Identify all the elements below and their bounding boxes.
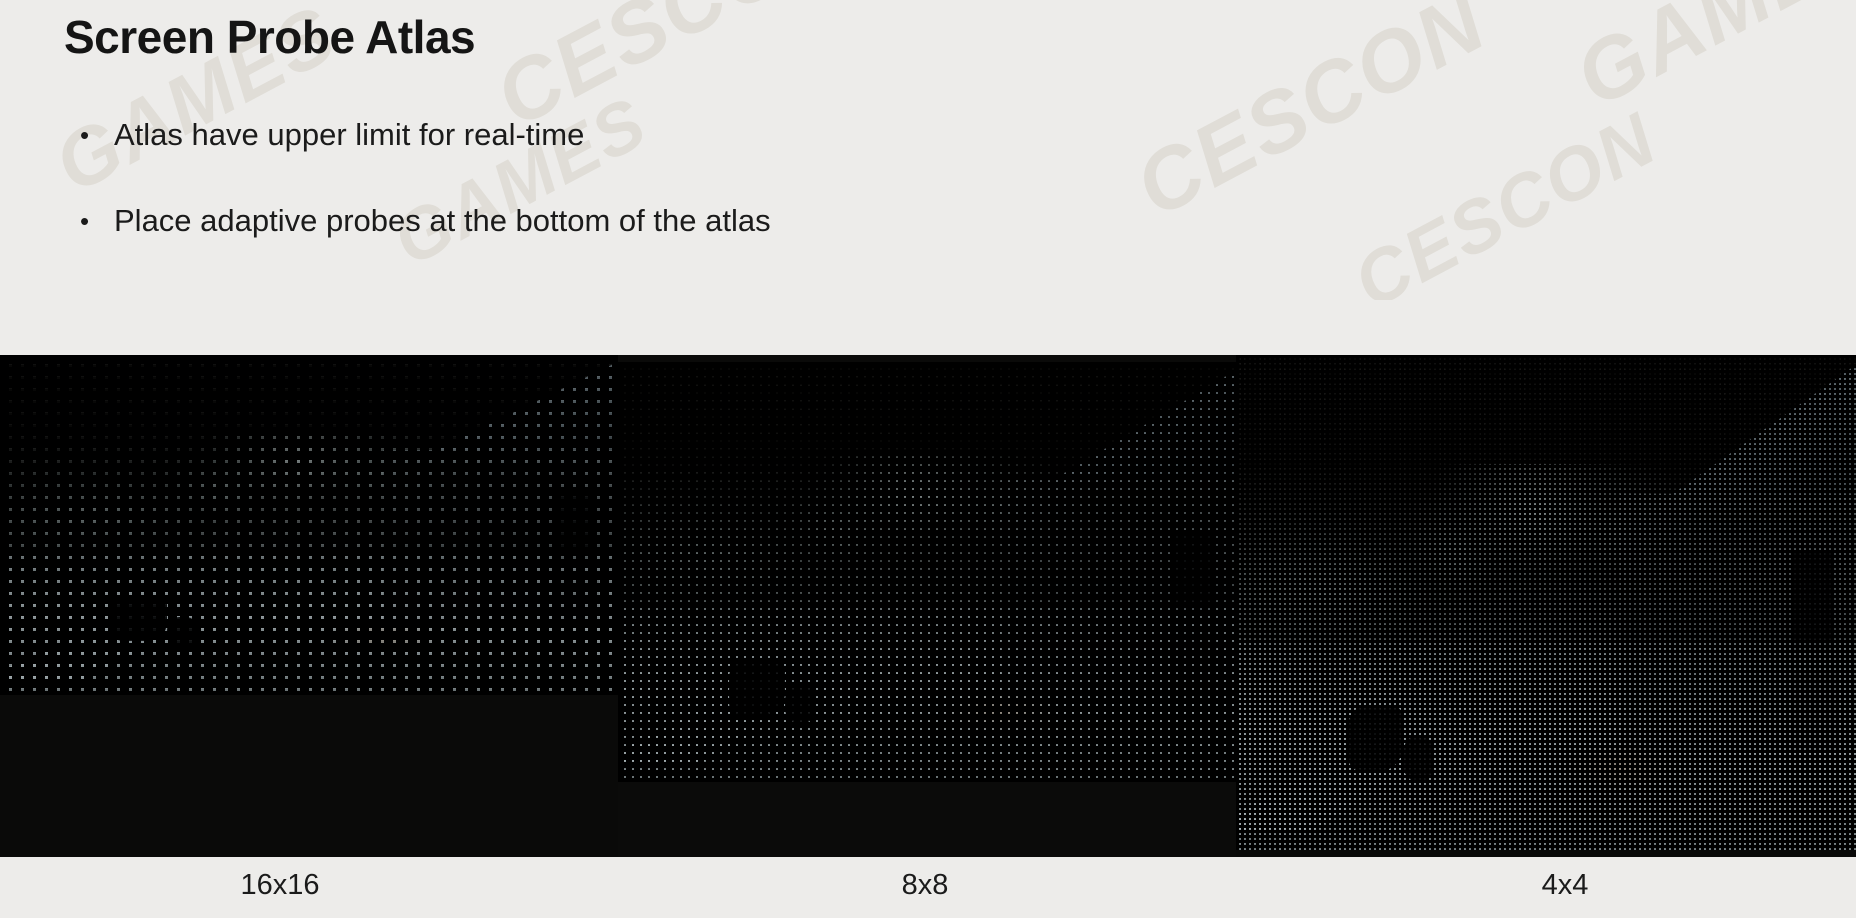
probe-dot-grid-4x4: [1236, 355, 1856, 850]
panel-caption-4x4: 4x4: [1470, 869, 1660, 902]
caption-row: 16x16 8x8 4x4: [0, 857, 1856, 918]
probe-atlas-panel-8x8: [618, 362, 1236, 857]
probe-render-4x4: [1236, 355, 1856, 850]
bullet-list: • Atlas have upper limit for real-time •…: [70, 118, 1470, 290]
probe-atlas-panel-16x16: [0, 355, 618, 857]
slide-text-area: Screen Probe Atlas • Atlas have upper li…: [0, 0, 1856, 355]
adaptive-probe-band: [618, 782, 1236, 857]
bullet-text: Place adaptive probes at the bottom of t…: [114, 204, 1470, 238]
probe-atlas-panel-4x4: [1236, 355, 1856, 857]
page-title: Screen Probe Atlas: [64, 10, 475, 64]
probe-dot-grid-16x16: [0, 355, 618, 695]
list-item: • Atlas have upper limit for real-time: [70, 118, 1470, 152]
bullet-text: Atlas have upper limit for real-time: [114, 118, 1470, 152]
figure-strip: [0, 355, 1856, 857]
list-item: • Place adaptive probes at the bottom of…: [70, 204, 1470, 238]
probe-dot-grid-8x8: [618, 362, 1236, 782]
probe-render-16x16: [0, 355, 618, 695]
bullet-dot-icon: •: [70, 118, 114, 152]
slide-root: GAMES CESCON GAMES CESCON GAMES CESCON S…: [0, 0, 1856, 918]
panel-caption-16x16: 16x16: [180, 869, 380, 902]
probe-render-8x8: [618, 362, 1236, 782]
bullet-dot-icon: •: [70, 204, 114, 238]
panel-caption-8x8: 8x8: [830, 869, 1020, 902]
